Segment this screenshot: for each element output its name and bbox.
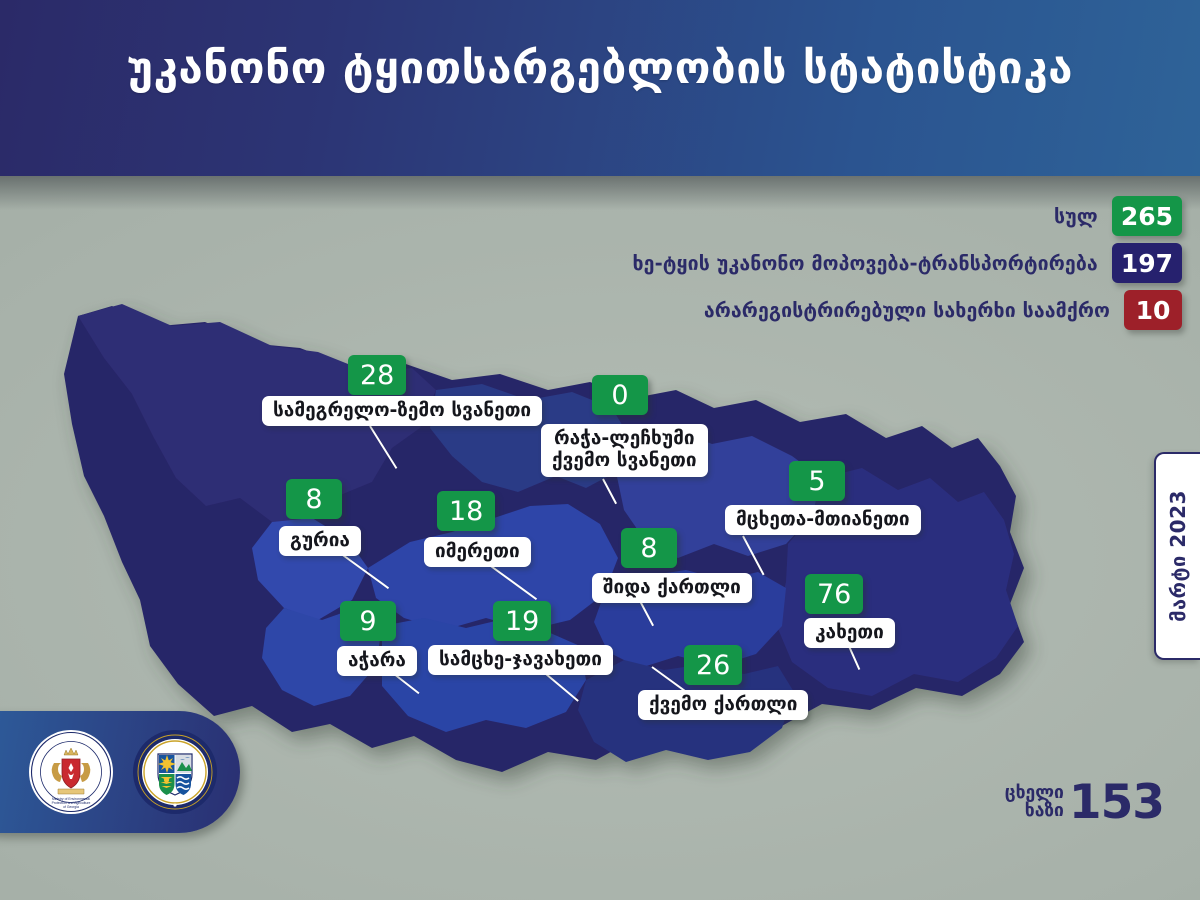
legend-row-illegal-logging-transport: ხე-ტყის უკანონო მოპოვება-ტრანსპორტირება … bbox=[633, 243, 1183, 283]
legend-chip-total: 265 bbox=[1112, 196, 1182, 236]
legend-row-unregistered-sawmill: არარეგისტრირებული სახერხი საამქრო 10 bbox=[633, 290, 1183, 330]
region-name-pill-region-6[interactable]: აჭარა bbox=[337, 646, 417, 676]
agency-logo-plate: Ministry of Environmental Protection and… bbox=[0, 711, 240, 833]
region-name-pill-region-3[interactable]: იმერეთი bbox=[424, 537, 531, 567]
page-title: უკანონო ტყითსარგებლობის სტატისტიკა bbox=[0, 44, 1200, 95]
count-badge-region-7[interactable]: 19 bbox=[493, 601, 551, 641]
region-name-pill-region-0[interactable]: სამეგრელო-ზემო სვანეთი bbox=[262, 396, 542, 426]
infographic-canvas: 28სამეგრელო-ზემო სვანეთი0რაჭა-ლეჩხუმიქვე… bbox=[0, 0, 1200, 900]
region-name-pill-region-7[interactable]: სამცხე-ჯავახეთი bbox=[428, 645, 613, 675]
region-name-line: რაჭა-ლეჩხუმი bbox=[552, 427, 697, 449]
region-name-line: იმერეთი bbox=[435, 540, 520, 562]
national-environmental-agency-seal bbox=[132, 729, 218, 815]
hotline-number: 153 bbox=[1069, 781, 1164, 824]
count-badge-region-8[interactable]: 76 bbox=[805, 574, 863, 614]
region-name-pill-region-1[interactable]: რაჭა-ლეჩხუმიქვემო სვანეთი bbox=[541, 424, 708, 477]
region-name-line: მცხეთა-მთიანეთი bbox=[736, 508, 910, 530]
count-badge-region-4[interactable]: 5 bbox=[789, 461, 845, 501]
count-badge-region-1[interactable]: 0 bbox=[592, 375, 648, 415]
region-name-pill-region-9[interactable]: ქვემო ქართლი bbox=[638, 690, 808, 720]
count-badge-region-6[interactable]: 9 bbox=[340, 601, 396, 641]
hotline-label-line1: ცხელი bbox=[1005, 785, 1064, 803]
legend-row-total: სულ 265 bbox=[633, 196, 1183, 236]
count-badge-region-9[interactable]: 26 bbox=[684, 645, 742, 685]
region-name-line: ქვემო სვანეთი bbox=[552, 449, 697, 471]
date-tab-label: მარტი 2023 bbox=[1166, 490, 1190, 622]
map-regions-group bbox=[64, 304, 1024, 772]
region-name-line: შიდა ქართლი bbox=[603, 576, 741, 598]
region-name-line: სამეგრელო-ზემო სვანეთი bbox=[273, 399, 531, 421]
hotline-label-line2: ხაზი bbox=[1005, 803, 1064, 821]
header-banner: უკანონო ტყითსარგებლობის სტატისტიკა bbox=[0, 0, 1200, 176]
region-name-pill-region-4[interactable]: მცხეთა-მთიანეთი bbox=[725, 505, 921, 535]
region-name-line: კახეთი bbox=[815, 621, 884, 643]
legend-chip-unregistered-sawmill: 10 bbox=[1124, 290, 1182, 330]
hotline: ცხელი ხაზი 153 bbox=[1005, 781, 1164, 824]
count-badge-region-5[interactable]: 8 bbox=[621, 528, 677, 568]
count-badge-region-0[interactable]: 28 bbox=[348, 355, 406, 395]
count-badge-region-2[interactable]: 8 bbox=[286, 479, 342, 519]
legend: სულ 265 ხე-ტყის უკანონო მოპოვება-ტრანსპო… bbox=[633, 196, 1183, 337]
region-name-pill-region-8[interactable]: კახეთი bbox=[804, 618, 895, 648]
region-name-pill-region-2[interactable]: გურია bbox=[279, 526, 361, 556]
region-name-line: სამცხე-ჯავახეთი bbox=[439, 648, 602, 670]
region-name-line: აჭარა bbox=[348, 649, 406, 671]
count-badge-region-3[interactable]: 18 bbox=[437, 491, 495, 531]
legend-label-total: სულ bbox=[1054, 205, 1098, 228]
legend-label-unregistered-sawmill: არარეგისტრირებული სახერხი საამქრო bbox=[704, 299, 1110, 322]
ministry-of-environmental-protection-seal: Ministry of Environmental Protection and… bbox=[28, 729, 114, 815]
legend-label-illegal-logging-transport: ხე-ტყის უკანონო მოპოვება-ტრანსპორტირება bbox=[633, 252, 1098, 275]
legend-chip-illegal-logging-transport: 197 bbox=[1112, 243, 1182, 283]
region-name-line: გურია bbox=[290, 529, 350, 551]
date-tab[interactable]: მარტი 2023 bbox=[1154, 452, 1200, 660]
region-name-pill-region-5[interactable]: შიდა ქართლი bbox=[592, 573, 752, 603]
svg-text:of Georgia: of Georgia bbox=[63, 805, 79, 809]
hotline-label: ცხელი ხაზი bbox=[1005, 785, 1064, 820]
region-name-line: ქვემო ქართლი bbox=[649, 693, 797, 715]
